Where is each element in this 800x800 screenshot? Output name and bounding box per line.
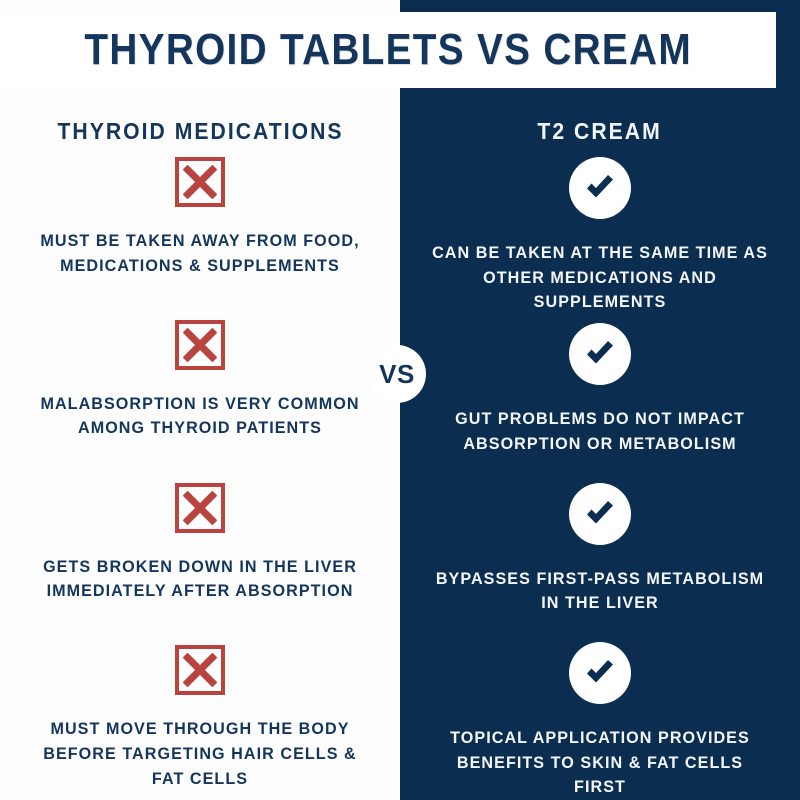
check-mark-icon xyxy=(569,157,631,219)
x-mark-icon xyxy=(175,320,225,370)
list-item-label: BYPASSES FIRST-PASS METABOLISM IN THE LI… xyxy=(429,567,771,616)
list-item: MUST MOVE THROUGH THE BODY BEFORE TARGET… xyxy=(14,637,386,800)
comparison-columns: THYROID MEDICATIONS MUST BE TAKEN AWAY F… xyxy=(0,100,800,800)
column-heading-left: THYROID MEDICATIONS xyxy=(57,118,343,145)
list-item: BYPASSES FIRST-PASS METABOLISM IN THE LI… xyxy=(414,475,786,635)
page-title: THYROID TABLETS VS CREAM xyxy=(84,28,691,72)
list-item: GUT PROBLEMS DO NOT IMPACT ABSORPTION OR… xyxy=(414,315,786,475)
list-item-label: CAN BE TAKEN AT THE SAME TIME AS OTHER M… xyxy=(429,241,771,315)
list-item-label: GUT PROBLEMS DO NOT IMPACT ABSORPTION OR… xyxy=(429,407,771,456)
list-item: MUST BE TAKEN AWAY FROM FOOD, MEDICATION… xyxy=(14,149,386,312)
list-item-label: MUST BE TAKEN AWAY FROM FOOD, MEDICATION… xyxy=(29,229,371,278)
check-mark-icon xyxy=(569,483,631,545)
list-item-label: GETS BROKEN DOWN IN THE LIVER IMMEDIATEL… xyxy=(29,555,371,604)
list-item: MALABSORPTION IS VERY COMMON AMONG THYRO… xyxy=(14,312,386,475)
infographic-canvas: THYROID TABLETS VS CREAM THYROID MEDICAT… xyxy=(0,0,800,800)
vs-badge-label: VS xyxy=(379,361,415,387)
column-heading-right: T2 CREAM xyxy=(538,118,662,145)
x-mark-icon xyxy=(175,645,225,695)
list-item: GETS BROKEN DOWN IN THE LIVER IMMEDIATEL… xyxy=(14,475,386,638)
column-t2-cream: T2 CREAM CAN BE TAKEN AT THE SAME TIME A… xyxy=(400,100,800,800)
check-mark-icon xyxy=(569,642,631,704)
list-item-label: TOPICAL APPLICATION PROVIDES BENEFITS TO… xyxy=(429,726,771,800)
right-items-list: CAN BE TAKEN AT THE SAME TIME AS OTHER M… xyxy=(414,149,786,800)
list-item-label: MALABSORPTION IS VERY COMMON AMONG THYRO… xyxy=(29,392,371,441)
list-item: CAN BE TAKEN AT THE SAME TIME AS OTHER M… xyxy=(414,149,786,315)
x-mark-icon xyxy=(175,157,225,207)
list-item: TOPICAL APPLICATION PROVIDES BENEFITS TO… xyxy=(414,634,786,800)
list-item-label: MUST MOVE THROUGH THE BODY BEFORE TARGET… xyxy=(29,717,371,791)
left-items-list: MUST BE TAKEN AWAY FROM FOOD, MEDICATION… xyxy=(14,149,386,800)
column-thyroid-medications: THYROID MEDICATIONS MUST BE TAKEN AWAY F… xyxy=(0,100,400,800)
title-band: THYROID TABLETS VS CREAM xyxy=(0,12,776,88)
x-mark-icon xyxy=(175,483,225,533)
vs-badge: VS xyxy=(368,345,426,403)
check-mark-icon xyxy=(569,323,631,385)
